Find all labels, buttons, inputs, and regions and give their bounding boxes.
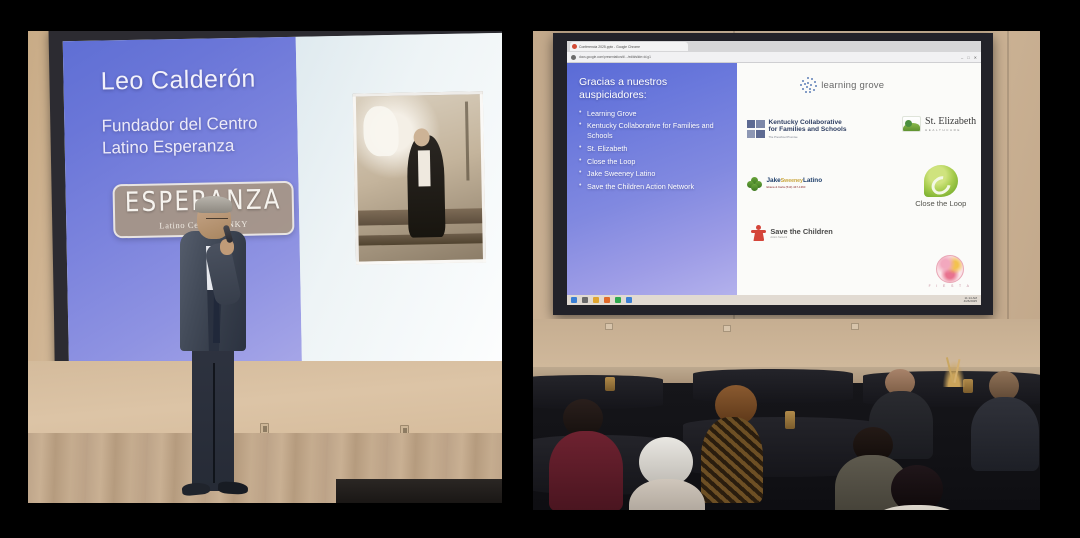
jake-text-block: JakeSweeneyLatino Eliana & Karla (513) 4… (767, 177, 823, 193)
st-elizabeth-logo: St. Elizabeth HEALTHCARE (902, 116, 976, 132)
table-flowers (941, 357, 967, 387)
taskbar-icon-chrome[interactable] (626, 297, 632, 303)
st-elizabeth-tagline: HEALTHCARE (925, 128, 976, 132)
close-the-loop-wordmark: Close the Loop (915, 199, 966, 208)
close-icon[interactable]: ✕ (974, 55, 977, 60)
list-item: St. Elizabeth (579, 144, 729, 153)
kcfs-text-block: Kentucky Collaborative for Families and … (769, 119, 847, 140)
audience-area (533, 383, 1040, 510)
glasses-icon (206, 218, 228, 223)
maximize-icon[interactable]: □ (967, 55, 969, 60)
list-item: Learning Grove (579, 109, 729, 118)
browser-tab[interactable]: Conferencia 2025.pptx - Google Chrome (570, 42, 688, 51)
jake-text-a: Jake (767, 177, 781, 184)
clock-date: 4/26/2025 (964, 300, 977, 303)
loop-swirl-icon (924, 165, 958, 197)
table-centerpiece (605, 377, 615, 391)
browser-tab-bar[interactable]: Conferencia 2025.pptx - Google Chrome (567, 41, 981, 52)
st-elizabeth-mark-icon (902, 116, 921, 132)
list-item: Jake Sweeney Latino (579, 169, 729, 178)
kcfs-tagline: The Preschool Promise (769, 135, 847, 139)
projection-screen-frame: Conferencia 2025.pptx - Google Chrome do… (553, 33, 993, 315)
fiesta-circle-icon (936, 255, 964, 283)
taskbar-icon-group[interactable] (571, 297, 632, 303)
projection-screen-frame: Leo Calderón Fundador del Centro Latino … (48, 31, 502, 399)
grove-dots-icon (800, 77, 817, 94)
learning-grove-wordmark: learning grove (821, 80, 884, 91)
window-controls[interactable]: – □ ✕ (961, 55, 977, 60)
child-figure-icon (751, 225, 766, 241)
attendee-body (549, 431, 623, 510)
collage-canvas: Leo Calderón Fundador del Centro Latino … (0, 0, 1080, 538)
slide-logo-panel: learning grove Kentucky Collaborative fo… (737, 63, 981, 295)
attendee-body (701, 417, 763, 503)
inset-photo-tree (465, 101, 470, 180)
save-the-children-wordmark: Save the Children (770, 228, 832, 235)
jake-sweeney-latino-logo: JakeSweeneyLatino Eliana & Karla (513) 4… (747, 177, 823, 193)
st-elizabeth-text-block: St. Elizabeth HEALTHCARE (925, 117, 976, 132)
sponsor-bullet-list: Learning Grove Kentucky Collaborative fo… (579, 109, 729, 192)
taskbar-icon-browser[interactable] (571, 297, 577, 303)
speaker-figure (176, 166, 250, 491)
speaker-photo: Leo Calderón Fundador del Centro Latino … (28, 31, 502, 503)
kcfs-line-1: Kentucky Collaborative (769, 119, 847, 127)
table-centerpiece (785, 411, 795, 429)
inset-photo-person-shirt (418, 150, 431, 187)
kentucky-collaborative-logo: Kentucky Collaborative for Families and … (747, 119, 847, 140)
slide-subtitle: Fundador del Centro Latino Esperanza (101, 112, 298, 160)
slide-text-panel: Gracias a nuestros auspiciadores: Learni… (567, 63, 737, 295)
banquet-table (533, 375, 663, 409)
list-item: Save the Children Action Network (579, 182, 729, 191)
speaker-leg-gap (213, 363, 215, 483)
clover-icon (747, 177, 763, 193)
kcfs-squares-icon (747, 120, 765, 138)
save-text-block: Save the Children Action Network (770, 228, 832, 240)
taskbar-icon-folder[interactable] (593, 297, 599, 303)
projection-screen-surface: Leo Calderón Fundador del Centro Latino … (63, 32, 502, 383)
jake-text-c: Latino (803, 177, 822, 184)
lock-icon (571, 55, 576, 60)
slide-title: Leo Calderón (101, 64, 288, 96)
save-the-children-tagline: Action Network (770, 236, 832, 239)
learning-grove-logo: learning grove (800, 77, 884, 94)
slide-title: Gracias a nuestros auspiciadores: (579, 76, 729, 102)
taskbar-clock[interactable]: 11:14 AM 4/26/2025 (964, 297, 977, 303)
taskbar-icon-app[interactable] (604, 297, 610, 303)
jake-contact: Eliana & Karla (513) 447-1360 (767, 185, 823, 189)
browser-tab-title: Conferencia 2025.pptx - Google Chrome (579, 45, 640, 49)
floor-shadow (336, 479, 502, 503)
list-item: Close the Loop (579, 157, 729, 166)
taskbar-icon-sheets[interactable] (615, 297, 621, 303)
wall-outlet (851, 323, 859, 330)
url-text: docs.google.com/presentation/d/.../edit#… (579, 55, 958, 59)
jake-text-b: Sweeney (781, 178, 803, 184)
wall-seam (1007, 31, 1009, 361)
speaker-shoe-right (218, 481, 249, 495)
wall-outlet (605, 323, 613, 330)
taskbar-icon-explorer[interactable] (582, 297, 588, 303)
list-item: Kentucky Collaborative for Families and … (579, 121, 729, 140)
slide-inset-photo (353, 91, 487, 264)
kcfs-line-2: for Families and Schools (769, 126, 847, 134)
st-elizabeth-wordmark: St. Elizabeth (925, 117, 976, 127)
minimize-icon[interactable]: – (961, 55, 963, 60)
fiesta-logo: F I E S T A (929, 255, 972, 288)
attendee-body (971, 397, 1039, 471)
fiesta-wordmark: F I E S T A (929, 284, 972, 288)
sponsor-slide: Gracias a nuestros auspiciadores: Learni… (567, 63, 981, 295)
speaker-hair (195, 196, 232, 213)
wall-outlet (723, 325, 731, 332)
close-the-loop-logo: Close the Loop (915, 165, 966, 208)
jake-wordmark: JakeSweeneyLatino (767, 177, 823, 185)
favicon-icon (572, 44, 577, 49)
save-the-children-logo: Save the Children Action Network (751, 225, 832, 241)
speaker-legs (192, 341, 234, 491)
inset-photo-highlight (363, 106, 399, 156)
audience-photo: Conferencia 2025.pptx - Google Chrome do… (533, 31, 1040, 510)
windows-taskbar[interactable]: 11:14 AM 4/26/2025 (567, 295, 981, 305)
jake-fineprint (767, 190, 823, 193)
attendee-head (891, 465, 943, 510)
room-floor (28, 433, 502, 503)
browser-address-bar[interactable]: docs.google.com/presentation/d/.../edit#… (567, 52, 981, 63)
browser-window: Conferencia 2025.pptx - Google Chrome do… (567, 41, 981, 305)
